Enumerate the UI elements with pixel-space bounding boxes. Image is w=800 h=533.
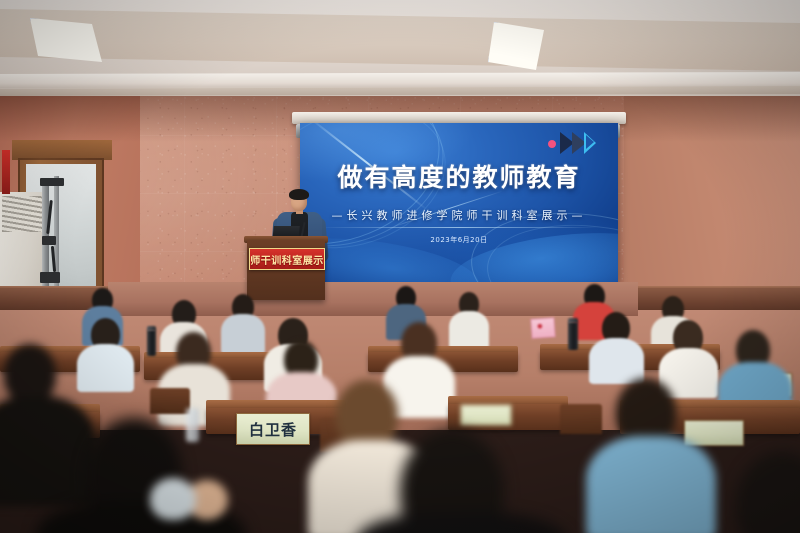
doorway-header [12,140,112,160]
audience-body [589,338,644,384]
slide-subtitle: —长兴教师进修学院师干训科室展示— [300,207,618,223]
water-bottle[interactable] [186,408,199,442]
institute-logo [548,131,604,155]
chair-back [150,388,190,414]
foreground-cup [150,478,196,520]
slide-main-title: 做有高度的教师教育 [300,165,618,190]
logo-dot-icon [548,140,556,148]
audience-head [736,452,800,533]
chair-back [560,404,602,434]
audience-body [0,396,96,506]
name-card [684,420,744,446]
audience-body [77,344,134,392]
wall-red-banner-strip [2,150,10,194]
rack-module-top [40,178,64,186]
thermos-cap [147,326,156,331]
audience-body [449,311,489,349]
podium-banner-text: 师干训科室展示 [250,252,324,267]
thermos-cap [568,318,578,323]
air-conditioner-louvers [2,196,42,232]
speaker-hair [289,189,309,200]
pink-booklet[interactable] [530,317,555,339]
podium-banner: 师干训科室展示 [249,248,325,270]
logo-chevron-icon-inner [586,135,594,149]
thermos-flask[interactable] [147,330,156,356]
audience-head [4,344,56,404]
projection-screen: 做有高度的教师教育 —长兴教师进修学院师干训科室展示— 2023年6月20日 [300,123,618,283]
slide-divider-rule [318,227,600,228]
name-card [460,404,512,426]
name-card: 白卫香 [236,413,310,445]
thermos-flask[interactable] [568,322,578,350]
ceiling-cornice [0,72,800,88]
rack-module-low [40,272,60,283]
name-card-text: 白卫香 [249,419,297,440]
audience-body [221,314,265,354]
conference-hall-photo: 做有高度的教师教育 —长兴教师进修学院师干训科室展示— 2023年6月20日 师… [0,0,800,533]
slide-date: 2023年6月20日 [300,235,618,245]
rack-module-mid [42,236,56,245]
audience-body [586,436,716,533]
